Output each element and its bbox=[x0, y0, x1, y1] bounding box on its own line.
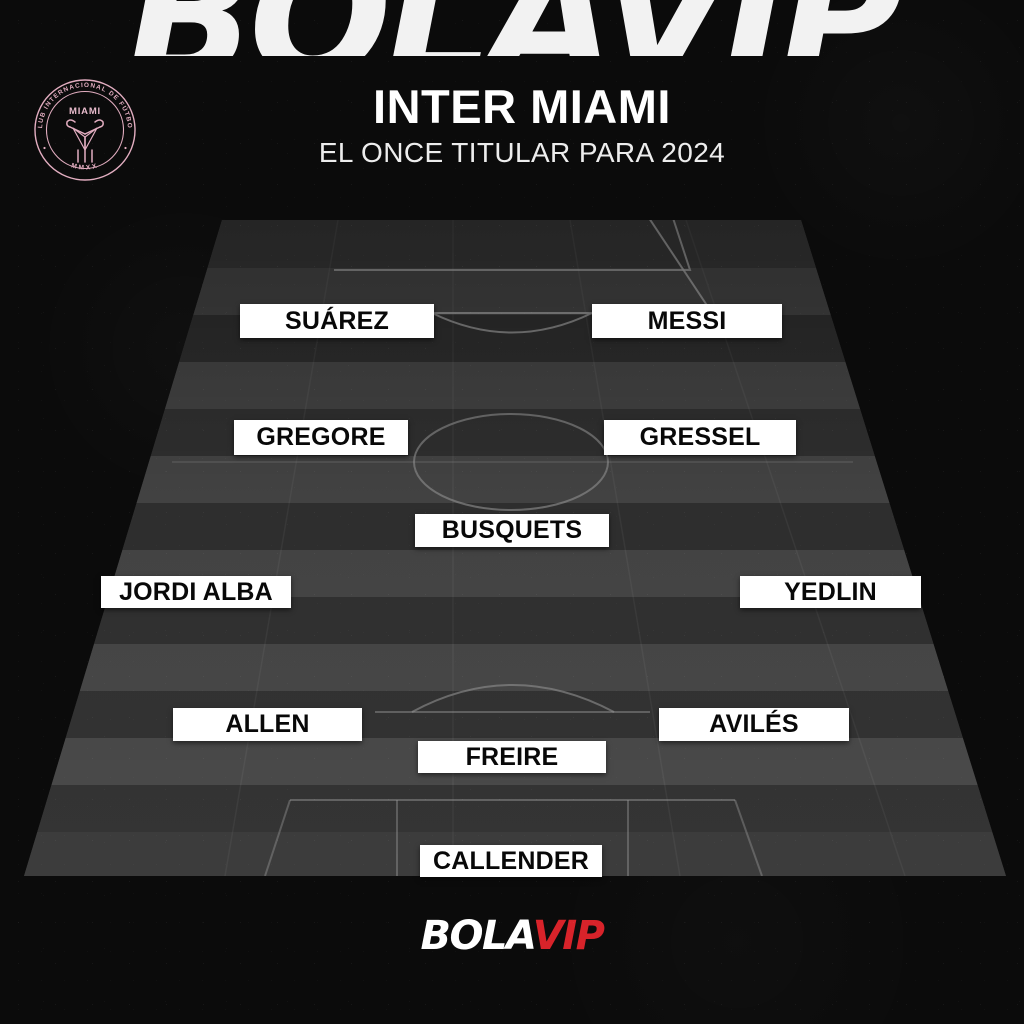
player-name: SUÁREZ bbox=[285, 307, 389, 336]
watermark-text: BOLAVIP bbox=[127, 0, 897, 56]
player-chip-allen[interactable]: ALLEN bbox=[173, 708, 362, 741]
bolavip-logo[interactable]: BOLAVIP bbox=[0, 916, 1024, 956]
player-chip-freire[interactable]: FREIRE bbox=[418, 741, 606, 773]
top-watermark-band: BOLAVIP bbox=[0, 0, 1024, 56]
page-title: INTER MIAMI bbox=[20, 82, 1024, 131]
player-name: FREIRE bbox=[466, 743, 559, 772]
player-chip-gressel[interactable]: GRESSEL bbox=[604, 420, 796, 455]
player-chip-suarez[interactable]: SUÁREZ bbox=[240, 304, 434, 338]
page-subtitle: EL ONCE TITULAR PARA 2024 bbox=[20, 137, 1024, 169]
player-chip-jordi-alba[interactable]: JORDI ALBA bbox=[101, 576, 291, 608]
player-name: JORDI ALBA bbox=[119, 578, 273, 607]
player-name: CALLENDER bbox=[433, 847, 589, 876]
header-block: INTER MIAMI EL ONCE TITULAR PARA 2024 bbox=[0, 82, 1024, 169]
player-chip-aviles[interactable]: AVILÉS bbox=[659, 708, 849, 741]
player-chip-yedlin[interactable]: YEDLIN bbox=[740, 576, 921, 608]
player-chip-busquets[interactable]: BUSQUETS bbox=[415, 514, 609, 547]
player-chip-messi[interactable]: MESSI bbox=[592, 304, 782, 338]
bolavip-logo-part1: BOLA bbox=[421, 913, 533, 959]
player-chip-gregore[interactable]: GREGORE bbox=[234, 420, 408, 455]
player-name: ALLEN bbox=[225, 710, 309, 739]
player-name: GREGORE bbox=[256, 423, 385, 452]
graphic-canvas: BOLAVIP CLUB INTERNACIONAL DE FÚTBOL MMX… bbox=[0, 0, 1024, 1024]
player-name: AVILÉS bbox=[709, 710, 799, 739]
player-chip-callender[interactable]: CALLENDER bbox=[420, 845, 602, 877]
bolavip-logo-part2: VIP bbox=[533, 913, 604, 959]
player-name: YEDLIN bbox=[784, 578, 877, 607]
player-name: MESSI bbox=[648, 307, 727, 336]
player-name: GRESSEL bbox=[640, 423, 761, 452]
player-name: BUSQUETS bbox=[442, 516, 583, 545]
